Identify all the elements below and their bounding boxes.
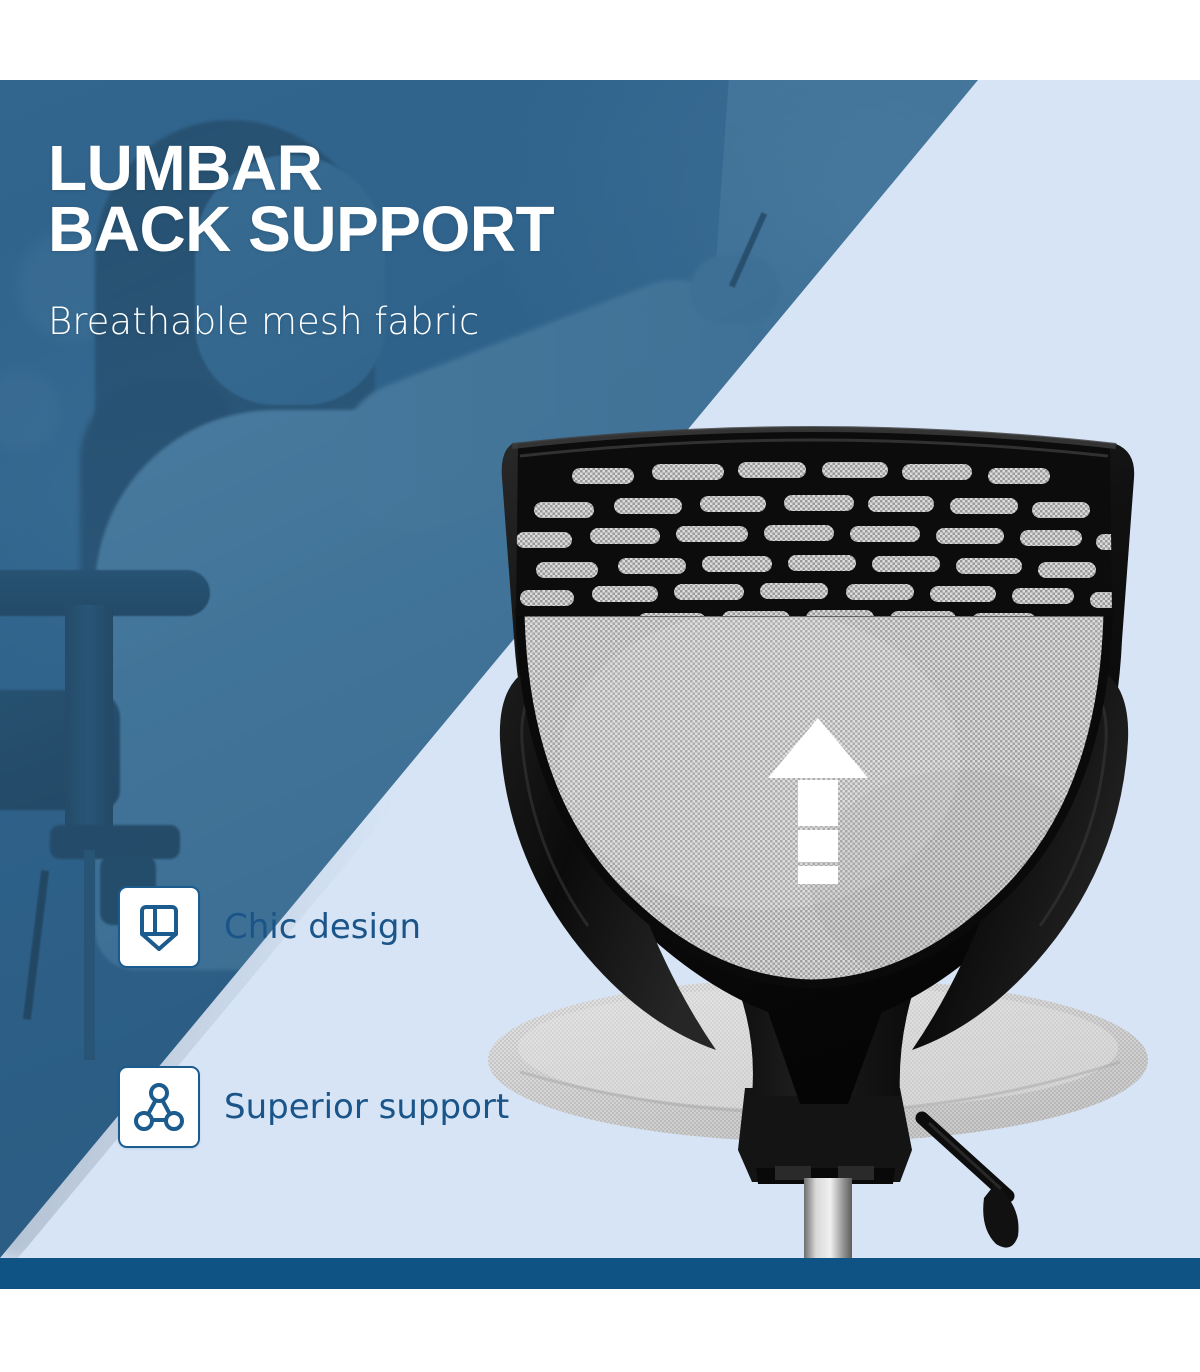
product-image-office-chair: [0, 0, 1200, 1372]
triangle-network-icon: [134, 1083, 184, 1131]
pencil-icon: [135, 902, 183, 952]
feature-icon-box: [118, 1066, 200, 1148]
feature-item-superior-support: Superior support: [118, 1066, 509, 1148]
feature-icon-box: [118, 886, 200, 968]
bottom-white-margin: [0, 1289, 1200, 1372]
feature-label: Superior support: [224, 1087, 509, 1127]
feature-item-chic-design: Chic design: [118, 886, 421, 968]
backrest-slot-frame: [500, 429, 1150, 632]
product-feature-poster: LUMBAR BACK SUPPORT Breathable mesh fabr…: [0, 0, 1200, 1372]
bottom-accent-bar: [0, 1258, 1200, 1289]
height-adjust-lever[interactable]: [922, 1118, 1019, 1248]
feature-label: Chic design: [224, 907, 421, 947]
